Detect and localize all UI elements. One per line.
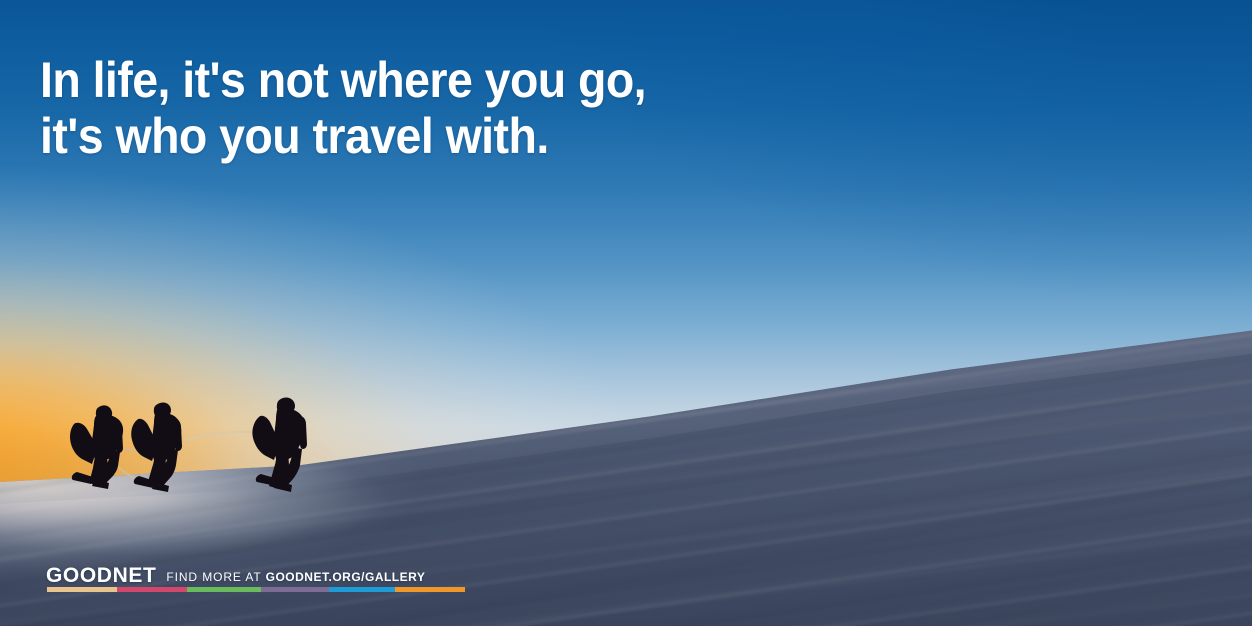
gallery-url[interactable]: GOODNET.ORG/GALLERY (266, 570, 426, 584)
brand-color-bar (47, 587, 467, 592)
tagline-prefix: FIND MORE AT (166, 570, 261, 584)
colorbar-segment-purple (261, 587, 329, 592)
goodnet-logo: GOODNET (46, 565, 156, 586)
brand-tagline: FIND MORE AT GOODNET.ORG/GALLERY (166, 570, 425, 584)
snow-bottom-shadow (0, 426, 1252, 626)
poster-canvas: In life, it's not where you go, it's who… (0, 0, 1252, 626)
page-title: In life, it's not where you go, it's who… (40, 52, 803, 164)
colorbar-segment-pink (117, 587, 187, 592)
colorbar-segment-green (187, 587, 261, 592)
colorbar-segment-tan (47, 587, 117, 592)
colorbar-segment-blue (329, 587, 395, 592)
brand-block: GOODNET FIND MORE AT GOODNET.ORG/GALLERY (46, 565, 425, 586)
colorbar-segment-orange (395, 587, 465, 592)
